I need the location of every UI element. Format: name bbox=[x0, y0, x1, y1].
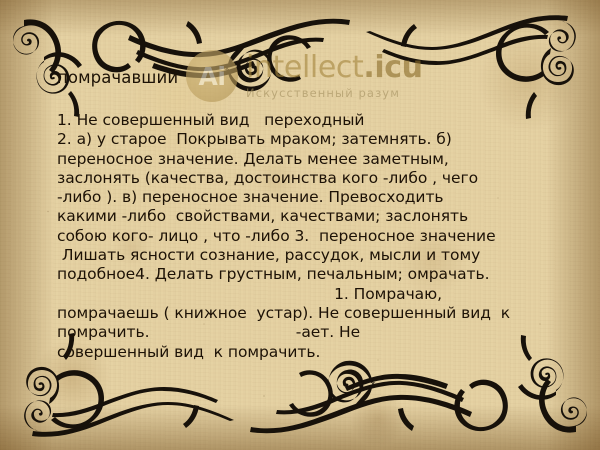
definition-line: 1. Не совершенный вид переходный bbox=[57, 111, 557, 130]
definition-line: переносное значение. Делать менее заметн… bbox=[57, 150, 557, 169]
definition-line: собою кого- лицо , что -либо 3. переносн… bbox=[57, 227, 557, 246]
definition-line: подобное4. Делать грустным, печальным; о… bbox=[57, 265, 557, 284]
definition-line: -либо ). в) переносное значение. Превосх… bbox=[57, 188, 557, 207]
page-title: помрачавший bbox=[57, 68, 178, 87]
watermark-title: intellect.icu bbox=[246, 53, 423, 83]
watermark-title-bold: .icu bbox=[363, 50, 422, 85]
definition-line: какими -либо свойствами, качествами; зас… bbox=[57, 207, 557, 226]
definition-line: совершенный вид к помрачить. bbox=[57, 343, 557, 362]
definition-line: 1. Помрачаю, bbox=[57, 285, 557, 304]
watermark-subtitle: Искусственный разум bbox=[246, 88, 423, 100]
watermark-title-plain: intellect bbox=[246, 50, 363, 85]
definition-line: 2. а) у старое Покрывать мраком; затемня… bbox=[57, 130, 557, 149]
definition-line: помрачить. -ает. Не bbox=[57, 323, 557, 342]
definition-line: помрачаешь ( книжное устар). Не совершен… bbox=[57, 304, 557, 323]
definition-line: Лишать ясности сознание, рассудок, мысли… bbox=[57, 246, 557, 265]
watermark: Ai intellect.icu Искусственный разум bbox=[186, 50, 423, 102]
watermark-badge-text: Ai bbox=[199, 64, 226, 89]
definition-line: заслонять (качества, достоинства кого -л… bbox=[57, 169, 557, 188]
dictionary-entry-page: Ai intellect.icu Искусственный разум пом… bbox=[0, 0, 600, 450]
definition-text: 1. Не совершенный вид переходный2. а) у … bbox=[57, 111, 557, 362]
watermark-ai-badge-icon: Ai bbox=[186, 50, 238, 102]
